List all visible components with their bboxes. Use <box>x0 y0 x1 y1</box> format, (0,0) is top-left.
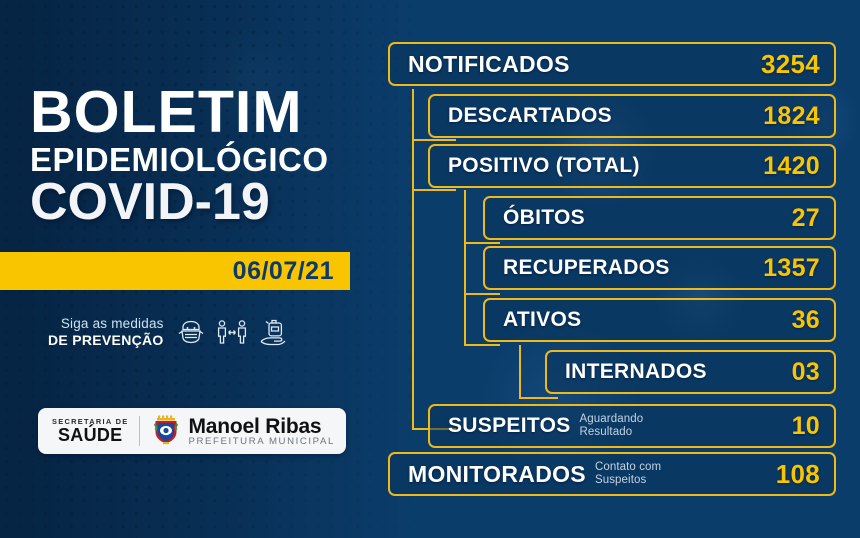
social-distancing-icon <box>215 317 249 347</box>
stat-value: 1420 <box>763 152 820 181</box>
stat-row-recuperados[interactable]: RECUPERADOS1357 <box>483 246 836 290</box>
prefeitura-logo: Manoel Ribas PREFEITURA MUNICIPAL <box>151 412 334 451</box>
prevention-line2: DE PREVENÇÃO <box>48 332 164 348</box>
title-boletim: BOLETIM <box>30 84 360 140</box>
stat-value: 1824 <box>763 102 820 131</box>
stat-row-descartados[interactable]: DESCARTADOS1824 <box>428 94 836 138</box>
stat-value: 03 <box>792 358 820 387</box>
face-mask-icon <box>176 317 206 347</box>
prevention-icons <box>176 317 290 347</box>
logo-divider <box>139 416 140 446</box>
stat-value: 1357 <box>763 254 820 283</box>
prevention-block: Siga as medidas DE PREVENÇÃO <box>48 316 290 348</box>
hand-sanitizer-icon <box>258 317 290 347</box>
stat-label: SUSPEITOS <box>448 414 571 438</box>
city-name: Manoel Ribas <box>188 416 334 437</box>
stat-row-suspeitos[interactable]: SUSPEITOSAguardando Resultado10 <box>428 404 836 448</box>
stat-label: POSITIVO (TOTAL) <box>448 154 640 178</box>
stat-label: MONITORADOS <box>408 461 586 488</box>
city-subtitle: PREFEITURA MUNICIPAL <box>188 437 334 447</box>
stat-row-ativos[interactable]: ATIVOS36 <box>483 298 836 342</box>
statistics-tree: NOTIFICADOS3254DESCARTADOS1824POSITIVO (… <box>380 0 860 538</box>
coat-of-arms-icon <box>151 412 181 451</box>
stat-row-notificados[interactable]: NOTIFICADOS3254 <box>388 42 836 86</box>
stat-label: NOTIFICADOS <box>408 51 570 78</box>
left-panel: BOLETIM EPIDEMIOLÓGICO COVID-19 06/07/21… <box>0 0 380 538</box>
prefeitura-text: Manoel Ribas PREFEITURA MUNICIPAL <box>188 416 334 447</box>
stat-label: DESCARTADOS <box>448 104 612 128</box>
stat-row-monitorados[interactable]: MONITORADOSContato com Suspeitos108 <box>388 452 836 496</box>
date-banner: 06/07/21 <box>0 252 350 290</box>
stat-value: 108 <box>776 459 820 490</box>
stat-row-positivo-total[interactable]: POSITIVO (TOTAL)1420 <box>428 144 836 188</box>
prevention-text: Siga as medidas DE PREVENÇÃO <box>48 316 164 348</box>
saude-label: SAÚDE <box>52 426 128 444</box>
stat-sublabel: Aguardando Resultado <box>580 413 644 439</box>
page-title: BOLETIM EPIDEMIOLÓGICO COVID-19 <box>30 84 360 228</box>
stat-value: 3254 <box>761 49 820 80</box>
stat-value: 10 <box>792 412 820 441</box>
stat-sublabel: Contato com Suspeitos <box>595 461 661 487</box>
stat-label: INTERNADOS <box>565 360 707 384</box>
stat-value: 27 <box>792 204 820 233</box>
title-covid19: COVID-19 <box>30 176 360 228</box>
stat-row-internados[interactable]: INTERNADOS03 <box>545 350 836 394</box>
stat-value: 36 <box>792 306 820 335</box>
stat-label: ÓBITOS <box>503 206 585 230</box>
bulletin-date: 06/07/21 <box>233 257 350 286</box>
logo-bar: SECRETARIA DE SAÚDE Manoel Ribas PREFEIT… <box>38 408 346 454</box>
stat-row-bitos[interactable]: ÓBITOS27 <box>483 196 836 240</box>
stat-label: RECUPERADOS <box>503 256 670 280</box>
stat-label: ATIVOS <box>503 308 581 332</box>
prevention-line1: Siga as medidas <box>48 316 164 332</box>
secretaria-saude-logo: SECRETARIA DE SAÚDE <box>38 418 128 443</box>
